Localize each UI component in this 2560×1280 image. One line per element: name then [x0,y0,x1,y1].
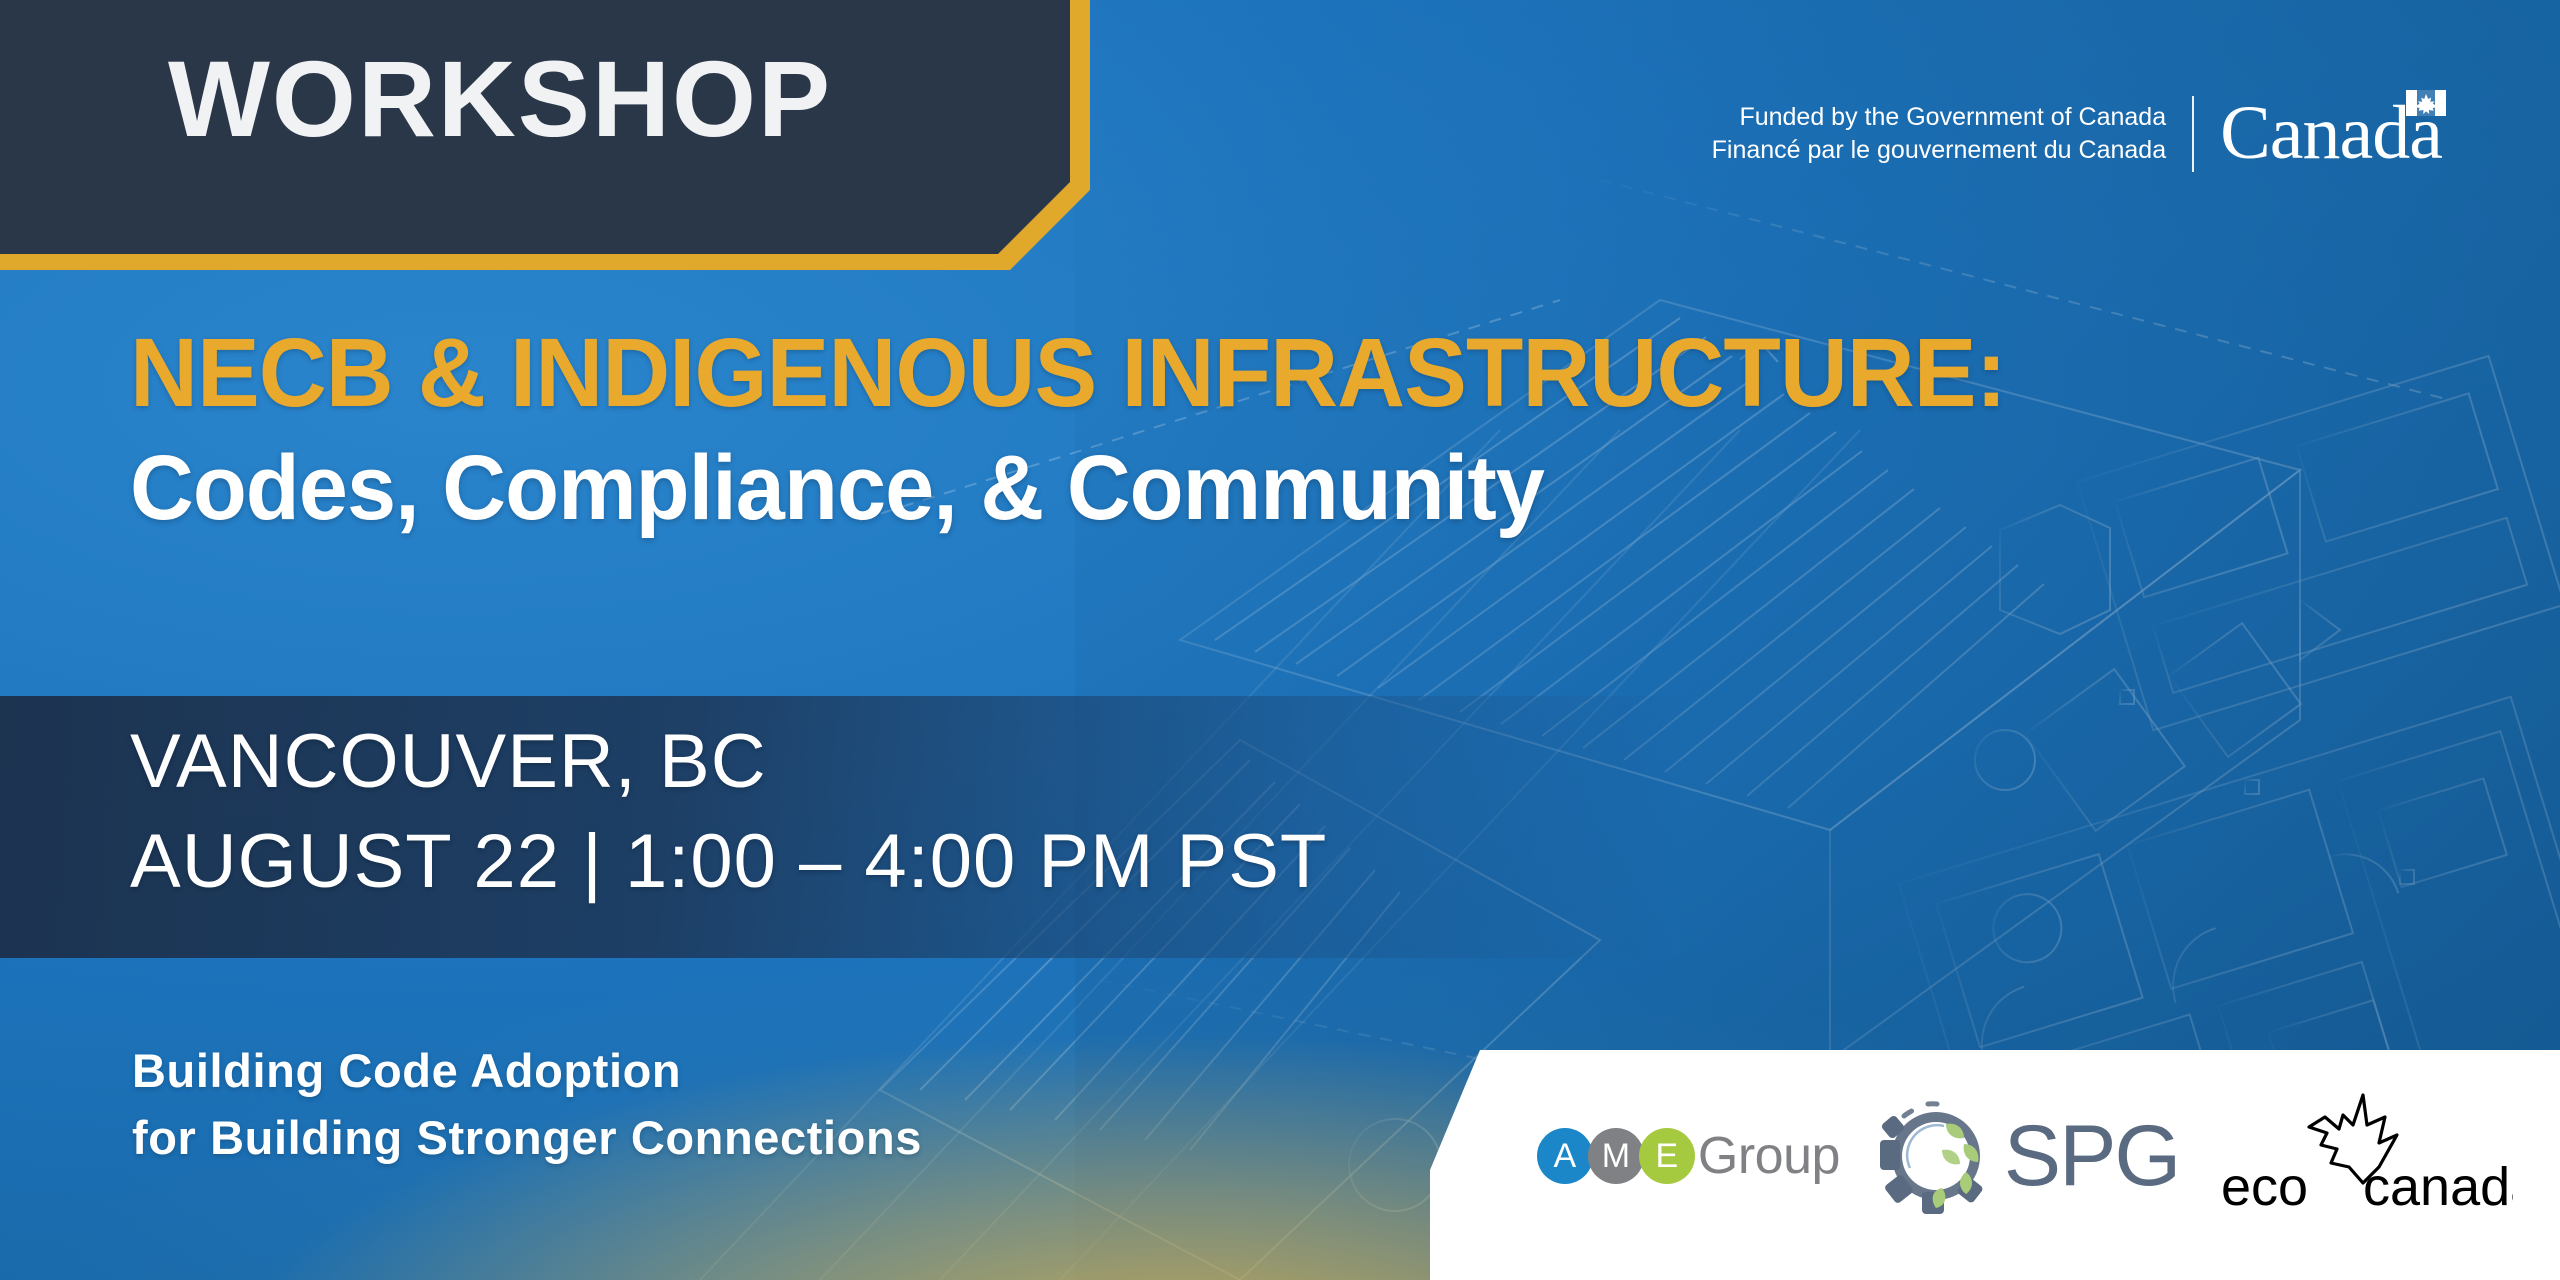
tagline-block: Building Code Adoption for Building Stro… [132,1038,1382,1171]
tagline-line-2: for Building Stronger Connections [132,1105,1382,1172]
funding-text-french: Financé par le gouvernement du Canada [1712,134,2166,168]
workshop-promo-banner: WORKSHOP Funded by the Government of Can… [0,0,2560,1280]
canada-wordmark: Canada [2220,98,2442,169]
canadian-flag-icon [2406,90,2446,116]
funding-attribution-text: Funded by the Government of Canada Finan… [1712,101,2166,168]
headline-block: NECB & INDIGENOUS INFRASTRUCTURE: Codes,… [130,322,2330,540]
headline-secondary: Codes, Compliance, & Community [130,437,2242,540]
workshop-tab-label: WORKSHOP [168,18,928,178]
wordmark-divider [2192,96,2194,172]
headline-primary: NECB & INDIGENOUS INFRASTRUCTURE: [130,322,2264,425]
event-datetime: AUGUST 22 | 1:00 – 4:00 PM PST [130,812,1630,912]
event-details-text: VANCOUVER, BC AUGUST 22 | 1:00 – 4:00 PM… [130,712,1630,913]
funding-text-english: Funded by the Government of Canada [1712,101,2166,135]
tagline-line-1: Building Code Adoption [132,1038,1382,1105]
event-location: VANCOUVER, BC [130,712,1630,812]
government-of-canada-wordmark: Funded by the Government of Canada Finan… [1712,96,2442,172]
